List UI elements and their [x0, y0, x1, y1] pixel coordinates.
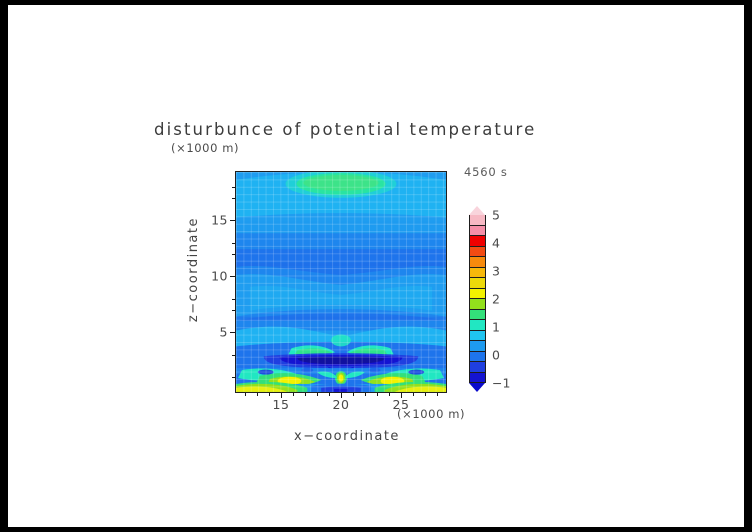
- y-tick-minor: [232, 299, 235, 300]
- colorbar-under-arrow: [469, 383, 485, 392]
- colorbar-tick-label-1: 1: [492, 320, 500, 335]
- y-tick-minor: [232, 187, 235, 188]
- colorbar-tick-label-2: 2: [492, 292, 500, 307]
- colorbar-segment: [469, 226, 486, 237]
- contour-field: [236, 172, 446, 392]
- title-units-label: (×1000 m): [171, 141, 239, 155]
- screenshot-root: disturbunce of potential temperature (×1…: [0, 0, 752, 532]
- y-tick-label-2: 15: [210, 213, 228, 228]
- colorbar-segment: [469, 352, 486, 363]
- colorbar-segment: [469, 289, 486, 300]
- x-tick-minor: [365, 393, 366, 396]
- colorbar-segment: [469, 257, 486, 268]
- x-tick-minor: [437, 393, 438, 396]
- contour-plot-area: [235, 171, 447, 393]
- x-tick-minor: [425, 393, 426, 396]
- x-axis-title: x−coordinate: [294, 429, 400, 444]
- x-tick-minor: [293, 393, 294, 396]
- y-tick-minor: [232, 254, 235, 255]
- y-tick-label-1: 10: [210, 269, 228, 284]
- x-tick-minor: [245, 393, 246, 396]
- y-tick-label-0: 5: [210, 325, 228, 340]
- x-tick-label-0: 15: [273, 397, 290, 412]
- colorbar-segment: [469, 278, 486, 289]
- x-tick-minor: [329, 393, 330, 396]
- x-tick-minor: [317, 393, 318, 396]
- colorbar-segment: [469, 236, 486, 247]
- y-tick-major-10: [230, 276, 235, 277]
- colorbar-tick-label-m1: −1: [492, 376, 510, 391]
- colorbar-segment: [469, 331, 486, 342]
- y-tick-major-5: [230, 332, 235, 333]
- x-tick-minor: [353, 393, 354, 396]
- y-tick-minor: [232, 198, 235, 199]
- x-tick-minor: [305, 393, 306, 396]
- colorbar-tick-label-0: 0: [492, 348, 500, 363]
- colorbar-segment: [469, 310, 486, 321]
- colorbar-tick-label-3: 3: [492, 264, 500, 279]
- x-tick-minor: [269, 393, 270, 396]
- timestamp-label: 4560 s: [464, 165, 508, 179]
- x-tick-label-1: 20: [333, 397, 350, 412]
- colorbar-segment: [469, 341, 486, 352]
- figure-canvas: disturbunce of potential temperature (×1…: [8, 5, 744, 527]
- y-tick-major-15: [230, 220, 235, 221]
- y-axis-title: z−coordinate: [186, 217, 201, 322]
- colorbar-segment: [469, 247, 486, 258]
- x-tick-minor: [413, 393, 414, 396]
- colorbar-tick-label-4: 4: [492, 236, 500, 251]
- colorbar-segment: [469, 215, 486, 226]
- colorbar[interactable]: [469, 215, 486, 383]
- colorbar-segment: [469, 320, 486, 331]
- colorbar-segment: [469, 373, 486, 384]
- page-title: disturbunce of potential temperature: [154, 120, 536, 139]
- x-tick-minor: [377, 393, 378, 396]
- colorbar-segment: [469, 299, 486, 310]
- colorbar-tick-label-5: 5: [492, 208, 500, 223]
- y-tick-minor: [232, 243, 235, 244]
- colorbar-segment: [469, 362, 486, 373]
- y-tick-minor: [232, 355, 235, 356]
- x-tick-minor: [389, 393, 390, 396]
- x-tick-minor: [257, 393, 258, 396]
- x-axis-units-label: (×1000 m): [397, 407, 465, 421]
- colorbar-segment: [469, 268, 486, 279]
- y-tick-minor: [232, 310, 235, 311]
- colorbar-over-arrow: [469, 206, 485, 215]
- y-tick-minor: [232, 377, 235, 378]
